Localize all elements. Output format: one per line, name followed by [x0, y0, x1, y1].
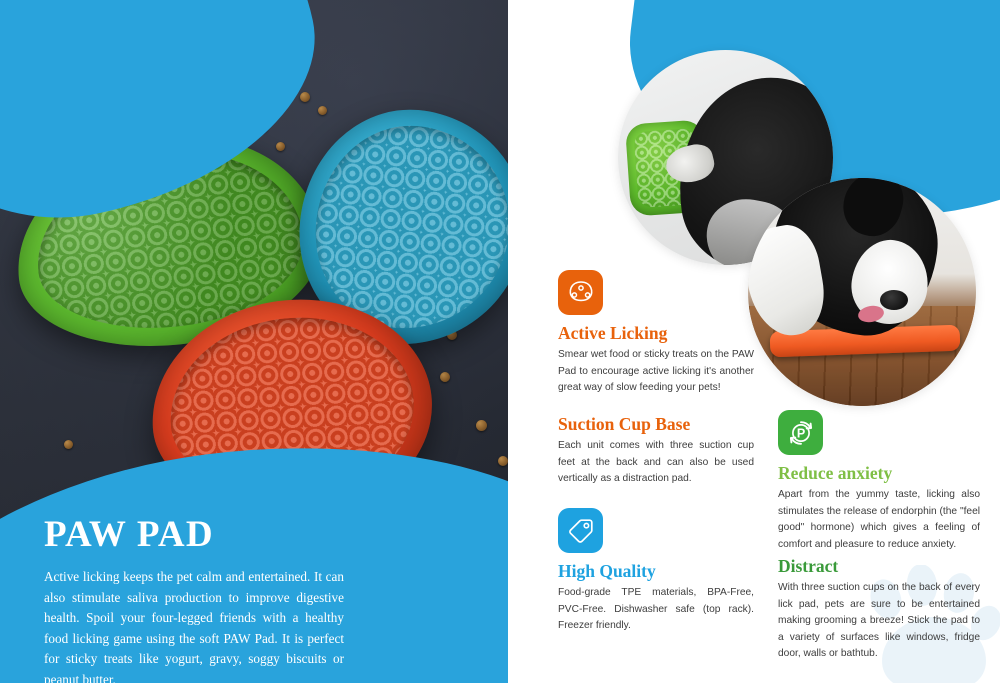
page-title: PAW PAD: [44, 516, 344, 553]
price-tag-icon: [558, 508, 603, 553]
feature-list: Active Licking Smear wet food or sticky …: [518, 0, 1000, 683]
kibble-piece: [276, 142, 285, 151]
kibble-piece: [440, 372, 450, 382]
product-brochure-page: PAW PAD Active licking keeps the pet cal…: [0, 0, 1000, 683]
feature-body: Each unit comes with three suction cup f…: [558, 438, 754, 488]
feature-body: Food-grade TPE materials, BPA-Free, PVC-…: [558, 585, 754, 635]
feature-distract: Distract With three suction cups on the …: [778, 548, 980, 663]
feature-suction-cup-base: Suction Cup Base Each unit comes with th…: [558, 406, 754, 488]
feature-title: Active Licking: [558, 324, 754, 343]
feature-reduce-anxiety: P Reduce anxiety Apart from the yummy ta…: [778, 410, 980, 553]
right-feature-panel: Active Licking Smear wet food or sticky …: [518, 0, 1000, 683]
feature-title: Reduce anxiety: [778, 464, 980, 483]
feature-title: Suction Cup Base: [558, 415, 754, 434]
kibble-piece: [498, 456, 508, 466]
kibble-piece: [64, 440, 73, 449]
feature-body: With three suction cups on the back of e…: [778, 580, 980, 663]
left-product-panel: PAW PAD Active licking keeps the pet cal…: [0, 0, 508, 683]
brand-text-block: PAW PAD Active licking keeps the pet cal…: [44, 516, 344, 683]
feature-high-quality: High Quality Food-grade TPE materials, B…: [558, 508, 754, 635]
recycle-p-icon: P: [778, 410, 823, 455]
kibble-piece: [476, 420, 487, 431]
feature-active-licking: Active Licking Smear wet food or sticky …: [558, 270, 754, 397]
feature-body: Apart from the yummy taste, licking also…: [778, 487, 980, 553]
panel-gutter: [508, 0, 518, 683]
kibble-piece: [300, 92, 310, 102]
kibble-piece: [318, 106, 327, 115]
feature-body: Smear wet food or sticky treats on the P…: [558, 347, 754, 397]
feature-title: High Quality: [558, 562, 754, 581]
lick-pad-icon: [558, 270, 603, 315]
brand-description: Active licking keeps the pet calm and en…: [44, 567, 344, 683]
svg-text:P: P: [796, 426, 804, 440]
feature-title: Distract: [778, 557, 980, 576]
